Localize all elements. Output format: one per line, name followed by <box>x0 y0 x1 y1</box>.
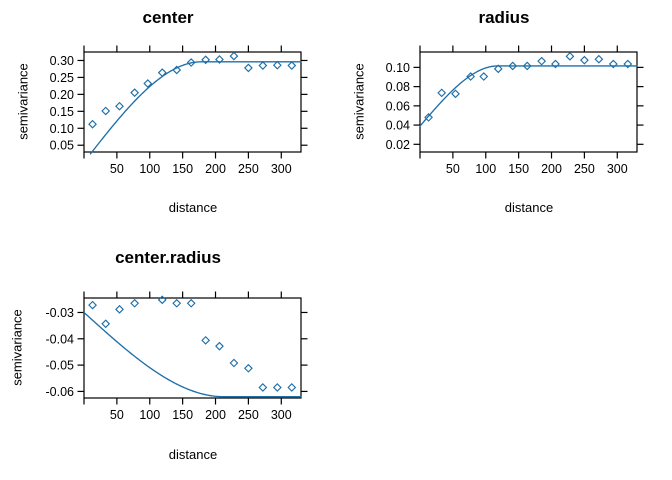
y-tick-label: 0.06 <box>386 99 410 113</box>
x-tick-label: 250 <box>238 162 259 176</box>
x-tick-label: 200 <box>541 162 562 176</box>
data-point-diamond <box>230 359 237 366</box>
data-point-diamond <box>288 384 295 391</box>
data-point-diamond <box>259 62 266 69</box>
data-point-diamond <box>116 306 123 313</box>
data-point-diamond <box>566 53 573 60</box>
variogram-figure: center semivariance distance 50100150200… <box>0 0 672 480</box>
y-tick-label: -0.04 <box>46 332 75 346</box>
x-tick-label: 50 <box>446 162 460 176</box>
data-point-diamond <box>102 320 109 327</box>
data-point-diamond <box>89 121 96 128</box>
data-point-diamond <box>173 300 180 307</box>
x-tick-label: 300 <box>271 408 292 422</box>
data-point-diamond <box>159 296 166 303</box>
data-point-diamond <box>595 56 602 63</box>
x-tick-label: 150 <box>172 408 193 422</box>
y-tick-label: 0.05 <box>50 139 74 153</box>
data-point-diamond <box>274 62 281 69</box>
y-tick-label: 0.10 <box>386 61 410 75</box>
data-point-diamond <box>102 107 109 114</box>
x-tick-label: 200 <box>205 162 226 176</box>
y-tick-label: 0.02 <box>386 138 410 152</box>
y-tick-label: 0.20 <box>50 88 74 102</box>
data-point-diamond <box>581 57 588 64</box>
y-tick-label: 0.30 <box>50 54 74 68</box>
x-tick-label: 250 <box>574 162 595 176</box>
fitted-model-curve <box>84 312 301 396</box>
panel-radius: radius semivariance distance 50100150200… <box>336 0 672 240</box>
data-point-diamond <box>202 337 209 344</box>
y-tick-label: -0.03 <box>46 306 75 320</box>
data-point-diamond <box>245 365 252 372</box>
x-tick-label: 200 <box>205 408 226 422</box>
x-tick-label: 100 <box>139 408 160 422</box>
fitted-model-curve <box>420 66 637 126</box>
panel-center: center semivariance distance 50100150200… <box>0 0 336 240</box>
y-tick-label: 0.15 <box>50 105 74 119</box>
x-tick-label: 300 <box>271 162 292 176</box>
x-tick-label: 150 <box>172 162 193 176</box>
x-tick-label: 100 <box>475 162 496 176</box>
data-point-diamond <box>274 384 281 391</box>
x-tick-label: 300 <box>607 162 628 176</box>
y-tick-label: 0.08 <box>386 80 410 94</box>
data-point-diamond <box>131 300 138 307</box>
plot-frame <box>420 52 637 152</box>
plot-area-radius: 501001502002503000.020.040.060.080.10 <box>336 0 672 240</box>
data-point-diamond <box>131 89 138 96</box>
data-point-diamond <box>259 384 266 391</box>
plot-frame <box>84 298 301 398</box>
y-tick-label: -0.06 <box>46 385 75 399</box>
x-tick-label: 250 <box>238 408 259 422</box>
y-tick-label: 0.10 <box>50 122 74 136</box>
data-point-diamond <box>538 58 545 65</box>
data-point-diamond <box>438 89 445 96</box>
data-point-diamond <box>89 302 96 309</box>
y-tick-label: 0.04 <box>386 119 410 133</box>
plot-area-center-radius: 50100150200250300-0.06-0.05-0.04-0.03 <box>0 240 336 480</box>
data-point-diamond <box>288 62 295 69</box>
data-point-diamond <box>216 343 223 350</box>
data-point-diamond <box>480 73 487 80</box>
panel-center-radius: center.radius semivariance distance 5010… <box>0 240 336 480</box>
x-tick-label: 100 <box>139 162 160 176</box>
x-tick-label: 50 <box>110 408 124 422</box>
data-point-diamond <box>116 103 123 110</box>
x-tick-label: 50 <box>110 162 124 176</box>
data-point-diamond <box>452 90 459 97</box>
data-point-diamond <box>245 64 252 71</box>
plot-frame <box>84 52 301 152</box>
panel-empty <box>336 240 672 480</box>
x-tick-label: 150 <box>508 162 529 176</box>
y-tick-label: 0.25 <box>50 71 74 85</box>
plot-area-center: 501001502002503000.050.100.150.200.250.3… <box>0 0 336 240</box>
data-point-diamond <box>188 300 195 307</box>
y-tick-label: -0.05 <box>46 359 75 373</box>
data-point-diamond <box>230 52 237 59</box>
